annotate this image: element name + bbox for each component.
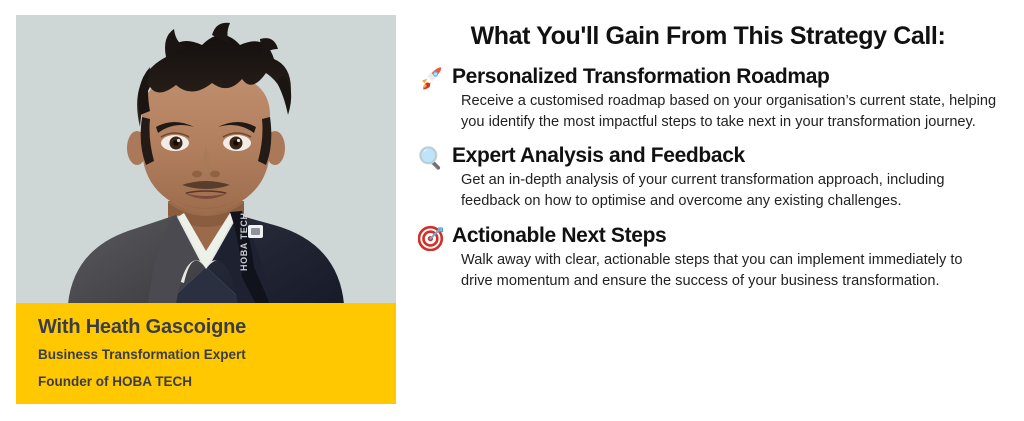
benefit-body: Get an in-depth analysis of your current… bbox=[452, 170, 998, 211]
presenter-photo-illustration: HOBA TECH bbox=[16, 15, 396, 304]
presenter-profile-card: HOBA TECH bbox=[16, 15, 396, 404]
benefit-title: Actionable Next Steps bbox=[452, 224, 998, 248]
target-dart-icon bbox=[418, 225, 444, 251]
magnifying-glass-icon bbox=[418, 145, 444, 171]
benefit-item-roadmap: Personalized Transformation Roadmap Rece… bbox=[418, 65, 998, 133]
benefit-body: Walk away with clear, actionable steps t… bbox=[452, 250, 998, 291]
benefit-title: Expert Analysis and Feedback bbox=[452, 144, 998, 168]
presenter-caption-band: With Heath Gascoigne Business Transforma… bbox=[16, 303, 396, 404]
svg-text:HOBA TECH: HOBA TECH bbox=[239, 212, 249, 271]
presenter-name: With Heath Gascoigne bbox=[38, 316, 246, 339]
presenter-photo: HOBA TECH bbox=[16, 15, 396, 304]
rocket-icon bbox=[418, 66, 444, 92]
benefit-title: Personalized Transformation Roadmap bbox=[452, 65, 998, 89]
benefit-body: Receive a customised roadmap based on yo… bbox=[452, 91, 998, 132]
benefit-item-next-steps: Actionable Next Steps Walk away with cle… bbox=[418, 224, 998, 292]
benefits-panel: What You'll Gain From This Strategy Call… bbox=[418, 22, 998, 303]
benefit-item-analysis: Expert Analysis and Feedback Get an in-d… bbox=[418, 144, 998, 212]
presenter-role: Business Transformation Expert bbox=[38, 347, 246, 362]
presenter-founder-title: Founder of HOBA TECH bbox=[38, 374, 192, 389]
benefits-heading: What You'll Gain From This Strategy Call… bbox=[418, 22, 998, 51]
